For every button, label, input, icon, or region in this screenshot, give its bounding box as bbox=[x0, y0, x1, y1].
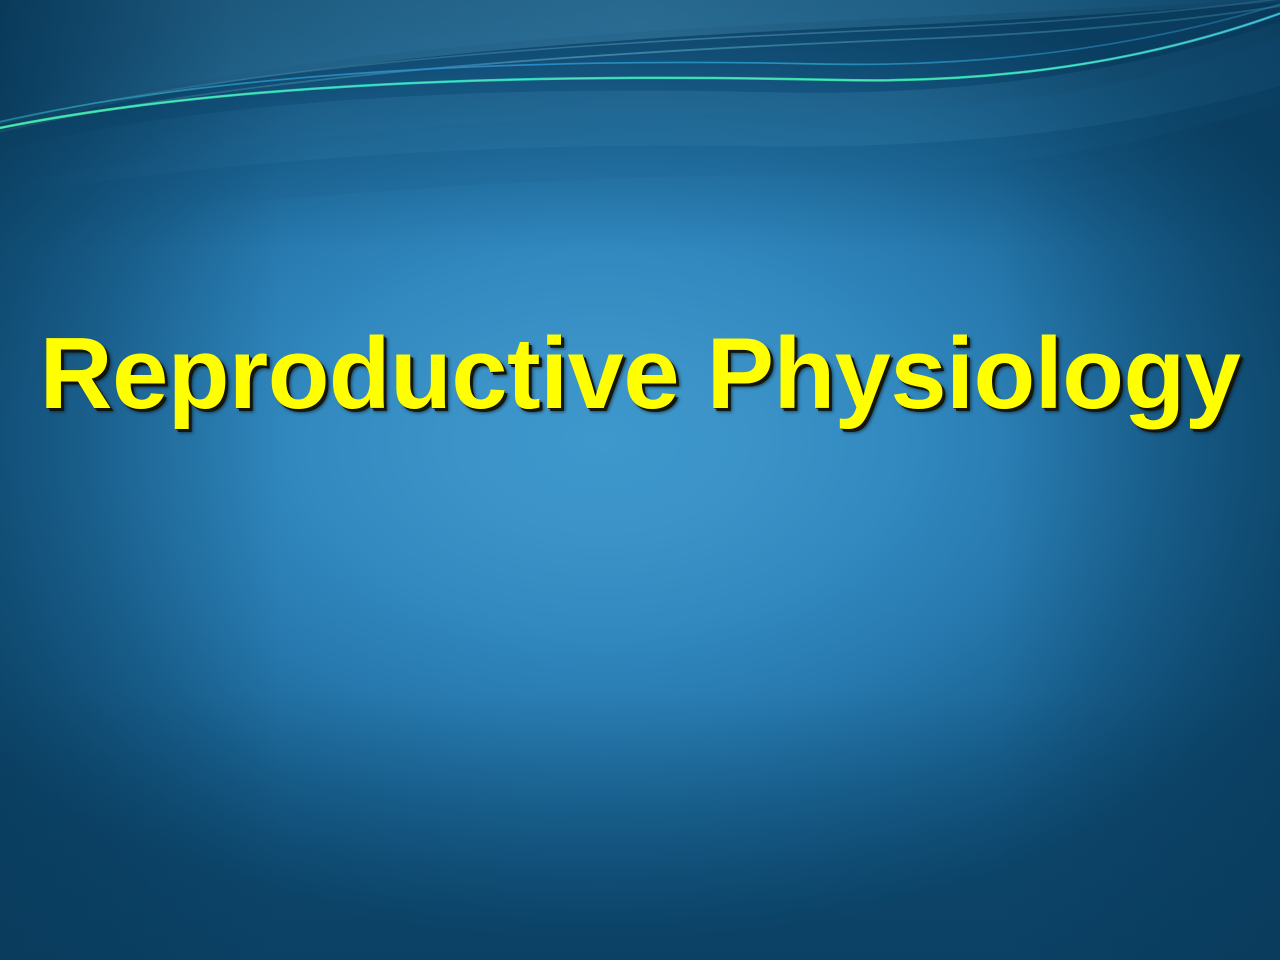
page-title: Reproductive Physiology bbox=[40, 318, 1241, 431]
slide-background-vignette bbox=[0, 0, 1280, 960]
presentation-slide: Reproductive Physiology bbox=[0, 0, 1280, 960]
title-placeholder: Reproductive Physiology bbox=[0, 318, 1280, 431]
